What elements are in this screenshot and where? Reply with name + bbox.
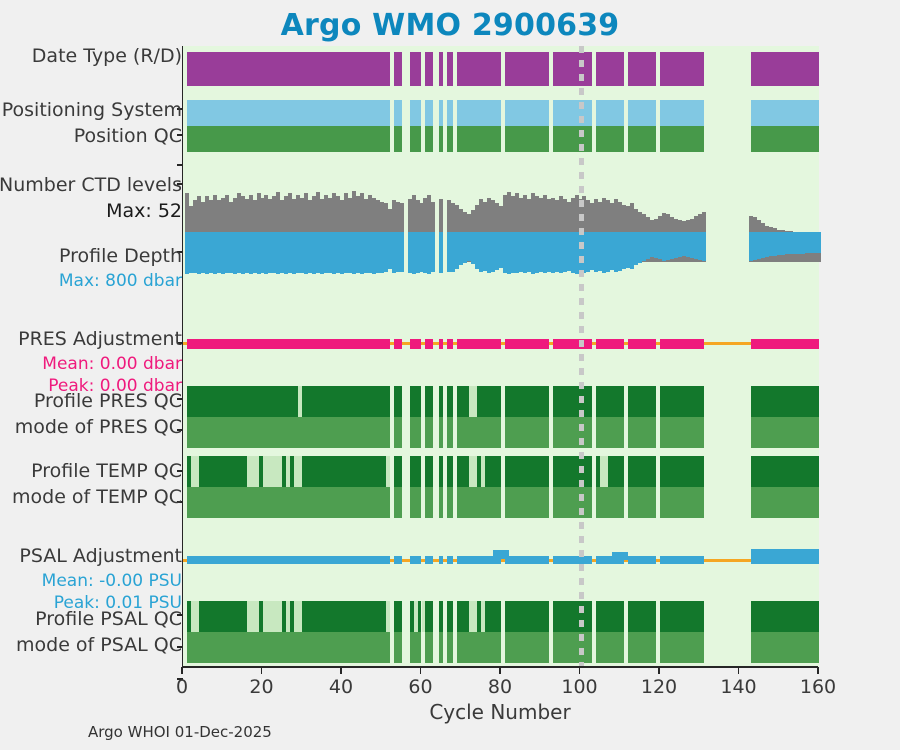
data-segment (505, 487, 549, 518)
row-axis-tick (177, 164, 183, 166)
series-temp-qc (183, 456, 819, 518)
x-tick (817, 667, 819, 674)
x-tick (738, 667, 740, 674)
data-segment (553, 339, 593, 349)
data-segment (660, 386, 704, 417)
row-label-date-type: Date Type (R/D) (32, 47, 182, 67)
data-segment (439, 601, 443, 632)
data-segment (425, 556, 433, 564)
data-segment (628, 456, 656, 487)
data-segment (410, 100, 422, 126)
series-pres-qc (183, 386, 819, 448)
footer-credit: Argo WHOI 01-Dec-2025 (88, 723, 272, 741)
data-segment (505, 632, 549, 663)
data-segment (628, 100, 656, 126)
data-segment (553, 487, 593, 518)
data-segment (596, 417, 624, 448)
data-segment (751, 339, 819, 349)
data-segment (628, 601, 656, 632)
data-segment (505, 52, 549, 86)
data-segment (596, 632, 624, 663)
x-tick (340, 667, 342, 674)
data-segment (628, 632, 656, 663)
data-segment (505, 100, 549, 126)
data-segment (660, 52, 704, 86)
data-segment (394, 456, 402, 487)
series-psal-qc (183, 601, 819, 663)
row-label-temp-qc: Profile TEMP QC (31, 462, 182, 482)
data-segment (553, 556, 593, 564)
data-segment (447, 456, 453, 487)
series-date-type (183, 52, 819, 86)
row-label-pres-qc: Profile PRES QC (34, 392, 182, 412)
data-segment (410, 487, 422, 518)
data-segment (425, 417, 433, 448)
data-segment (596, 487, 624, 518)
data-segment (751, 100, 819, 126)
data-segment (447, 339, 453, 349)
data-segment (628, 126, 656, 152)
data-segment (596, 52, 624, 86)
data-segment (596, 386, 624, 417)
data-segment (457, 339, 501, 349)
data-segment (187, 487, 390, 518)
data-segment (447, 52, 453, 86)
data-segment (439, 100, 443, 126)
data-segment (425, 126, 433, 152)
data-segment (817, 232, 821, 253)
data-segment (660, 456, 704, 487)
data-segment (439, 487, 443, 518)
row-label-positioning: Positioning System (2, 101, 182, 121)
data-segment (439, 386, 443, 417)
data-segment (553, 386, 593, 417)
data-segment (263, 601, 283, 632)
data-segment (191, 601, 199, 632)
data-segment (553, 632, 593, 663)
data-segment (751, 632, 819, 663)
data-segment (410, 632, 422, 663)
x-tick (420, 667, 422, 674)
x-tick (579, 667, 581, 674)
row-label-ctd-levels: Number CTD levels (0, 176, 182, 196)
data-segment (702, 232, 706, 261)
data-segment (394, 386, 402, 417)
row-label-pres-adjustment: Mean: 0.00 dbar (42, 356, 182, 374)
x-tick (499, 667, 501, 674)
data-segment (431, 232, 435, 272)
data-segment (628, 52, 656, 86)
data-segment (247, 456, 259, 487)
data-segment (394, 632, 402, 663)
data-segment (505, 456, 549, 487)
data-segment (553, 456, 593, 487)
data-segment (457, 126, 501, 152)
data-segment (187, 417, 390, 448)
data-segment (505, 386, 549, 417)
data-segment (187, 556, 390, 564)
data-segment (394, 601, 402, 632)
row-label-psal-adjustment: PSAL Adjustment (19, 547, 182, 567)
row-label-profile-depth: Max: 800 dbar (59, 273, 182, 291)
plot-area (182, 46, 819, 667)
data-segment (439, 52, 443, 86)
series-profile-depth (183, 232, 819, 284)
data-segment (394, 556, 402, 564)
data-segment (751, 52, 819, 86)
data-segment (751, 417, 819, 448)
data-segment (457, 487, 501, 518)
data-segment (596, 100, 624, 126)
row-label-positioning: Position QC (74, 127, 182, 147)
data-segment (425, 100, 433, 126)
data-segment (469, 456, 477, 487)
data-segment (400, 232, 404, 272)
x-tick-label: 60 (408, 676, 432, 698)
reference-line-cycle-100 (579, 46, 584, 667)
data-segment (247, 601, 259, 632)
data-segment (425, 601, 433, 632)
data-segment (410, 52, 422, 86)
data-segment (439, 456, 443, 487)
series-psal-adjustment (183, 546, 819, 574)
x-tick-label: 80 (488, 676, 512, 698)
data-segment (425, 52, 433, 86)
data-segment (439, 126, 443, 152)
data-segment (439, 556, 443, 564)
data-segment (187, 126, 390, 152)
data-segment (425, 632, 433, 663)
data-segment (410, 456, 422, 487)
data-segment (425, 487, 433, 518)
data-segment (553, 417, 593, 448)
data-segment (457, 386, 501, 417)
data-segment (660, 126, 704, 152)
data-segment (628, 556, 656, 564)
data-segment (447, 100, 453, 126)
data-segment (751, 549, 819, 559)
data-segment (751, 601, 819, 632)
data-segment (394, 126, 402, 152)
data-segment (553, 601, 593, 632)
data-segment (447, 487, 453, 518)
data-segment (628, 417, 656, 448)
data-segment (505, 601, 549, 632)
data-segment (187, 632, 390, 663)
data-segment (286, 601, 290, 632)
data-segment (457, 601, 501, 632)
data-segment (187, 52, 390, 86)
data-segment (505, 417, 549, 448)
data-segment (660, 487, 704, 518)
data-segment (439, 632, 443, 663)
x-axis-label: Cycle Number (182, 700, 818, 724)
series-pres-adjustment (183, 333, 819, 355)
data-segment (263, 456, 283, 487)
data-segment (410, 386, 422, 417)
data-segment (447, 126, 453, 152)
data-segment (660, 100, 704, 126)
data-segment (505, 126, 549, 152)
data-segment (600, 456, 608, 487)
x-tick-label: 160 (800, 676, 836, 698)
data-segment (457, 632, 501, 663)
data-segment (660, 417, 704, 448)
data-segment (660, 632, 704, 663)
x-tick-label: 140 (720, 676, 756, 698)
data-segment (457, 417, 501, 448)
row-label-psal-adjustment: Mean: -0.00 PSU (42, 573, 182, 591)
data-segment (481, 601, 485, 632)
data-segment (469, 386, 477, 417)
data-segment (394, 339, 402, 349)
data-segment (439, 339, 443, 349)
data-segment (425, 456, 433, 487)
data-segment (410, 417, 422, 448)
data-segment (425, 339, 433, 349)
x-tick (658, 667, 660, 674)
x-tick (181, 667, 183, 674)
series-positioning (183, 100, 819, 152)
data-segment (751, 487, 819, 518)
data-segment (612, 552, 628, 560)
data-segment (439, 417, 443, 448)
data-segment (187, 386, 390, 417)
data-segment (187, 339, 390, 349)
data-segment (394, 100, 402, 126)
page-title: Argo WMO 2900639 (0, 8, 900, 43)
data-segment (394, 417, 402, 448)
data-segment (410, 556, 422, 564)
x-tick-label: 120 (641, 676, 677, 698)
data-segment (553, 126, 593, 152)
data-segment (294, 601, 302, 632)
data-segment (447, 386, 453, 417)
data-segment (286, 456, 290, 487)
row-label-pres-qc: mode of PRES QC (15, 418, 182, 438)
data-segment (553, 52, 593, 86)
data-segment (447, 601, 453, 632)
data-segment (447, 556, 453, 564)
x-tick-label: 40 (329, 676, 353, 698)
data-segment (751, 126, 819, 152)
data-segment (596, 126, 624, 152)
data-segment (505, 339, 549, 349)
data-segment (414, 601, 418, 632)
x-tick-label: 100 (561, 676, 597, 698)
row-label-psal-qc: mode of PSAL QC (16, 636, 182, 656)
data-segment (187, 100, 390, 126)
data-segment (628, 339, 656, 349)
data-segment (660, 556, 704, 564)
data-segment (596, 601, 624, 632)
row-label-ctd-levels: Max: 52 (106, 202, 182, 222)
data-segment (298, 386, 302, 417)
data-segment (628, 487, 656, 518)
data-segment (481, 456, 485, 487)
x-tick-label: 0 (176, 676, 188, 698)
data-segment (394, 52, 402, 86)
data-segment (425, 386, 433, 417)
data-segment (493, 550, 509, 559)
data-segment (457, 456, 501, 487)
data-segment (751, 456, 819, 487)
row-label-psal-qc: Profile PSAL QC (35, 610, 182, 630)
data-segment (660, 339, 704, 349)
row-label-temp-qc: mode of TEMP QC (12, 488, 182, 508)
x-tick-label: 20 (249, 676, 273, 698)
data-segment (457, 52, 501, 86)
data-segment (422, 601, 426, 632)
data-segment (386, 456, 390, 487)
data-segment (553, 100, 593, 126)
data-segment (751, 386, 819, 417)
data-segment (457, 100, 501, 126)
row-label-pres-adjustment: PRES Adjustment (18, 330, 182, 350)
data-segment (447, 417, 453, 448)
data-segment (505, 556, 549, 564)
data-segment (191, 456, 199, 487)
data-segment (596, 339, 624, 349)
data-segment (294, 456, 302, 487)
x-tick (261, 667, 263, 674)
data-segment (386, 601, 390, 632)
data-segment (628, 386, 656, 417)
data-segment (410, 126, 422, 152)
data-segment (394, 487, 402, 518)
data-segment (447, 632, 453, 663)
data-segment (469, 601, 477, 632)
data-segment (439, 232, 443, 273)
data-segment (410, 339, 422, 349)
data-segment (660, 601, 704, 632)
row-label-profile-depth: Profile Depth (59, 247, 182, 267)
